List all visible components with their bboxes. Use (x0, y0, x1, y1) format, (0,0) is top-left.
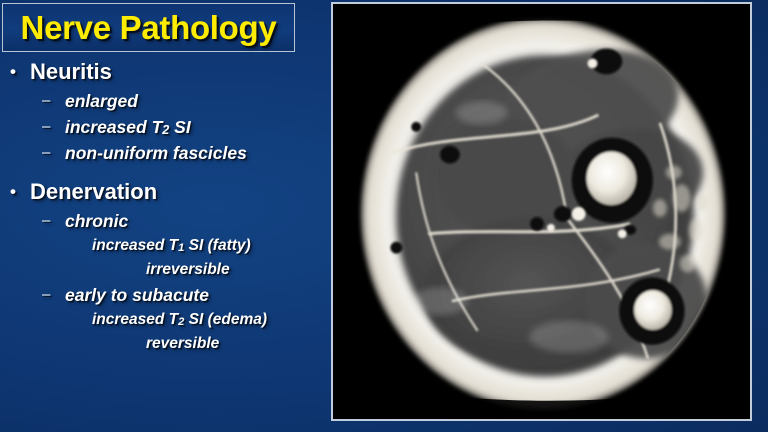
list-item: irreversible (0, 258, 320, 282)
list-item-label: increased T1 SI (fatty) (92, 237, 251, 254)
presentation-slide: Nerve Pathology • Neuritis – enlarged – … (0, 0, 768, 432)
spacer (0, 166, 320, 175)
outline-list: • Neuritis – enlarged – increased T2 SI … (0, 55, 320, 356)
list-item-label: enlarged (65, 91, 138, 111)
list-item: reversible (0, 332, 320, 356)
list-item: • Denervation (0, 175, 320, 208)
list-item-label: reversible (146, 335, 219, 352)
dash-icon: – (42, 114, 50, 140)
list-item-label: irreversible (146, 261, 230, 278)
axial-mri-image-panel (331, 2, 752, 421)
list-item-label: non-uniform fascicles (65, 143, 247, 163)
bullet-icon: • (10, 175, 16, 208)
list-item-label: increased T2 SI (edema) (92, 311, 267, 328)
mri-canvas (333, 4, 750, 419)
list-item: • Neuritis (0, 55, 320, 88)
list-item: – non-uniform fascicles (0, 140, 320, 166)
list-item-label: increased T2 SI (65, 117, 191, 137)
list-item-label: Neuritis (30, 59, 112, 84)
list-item: increased T2 SI (edema) (0, 308, 320, 332)
dash-icon: – (42, 88, 50, 114)
dash-icon: – (42, 140, 50, 166)
page-title: Nerve Pathology (21, 9, 277, 47)
bullet-icon: • (10, 55, 16, 88)
list-item: – enlarged (0, 88, 320, 114)
list-item-label: Denervation (30, 179, 157, 204)
list-item: increased T1 SI (fatty) (0, 234, 320, 258)
list-item-label: chronic (65, 211, 128, 231)
list-item: – chronic (0, 208, 320, 234)
dash-icon: – (42, 282, 50, 308)
dash-icon: – (42, 208, 50, 234)
list-item: – early to subacute (0, 282, 320, 308)
slide-title-box: Nerve Pathology (2, 3, 295, 52)
list-item: – increased T2 SI (0, 114, 320, 140)
list-item-label: early to subacute (65, 285, 209, 305)
